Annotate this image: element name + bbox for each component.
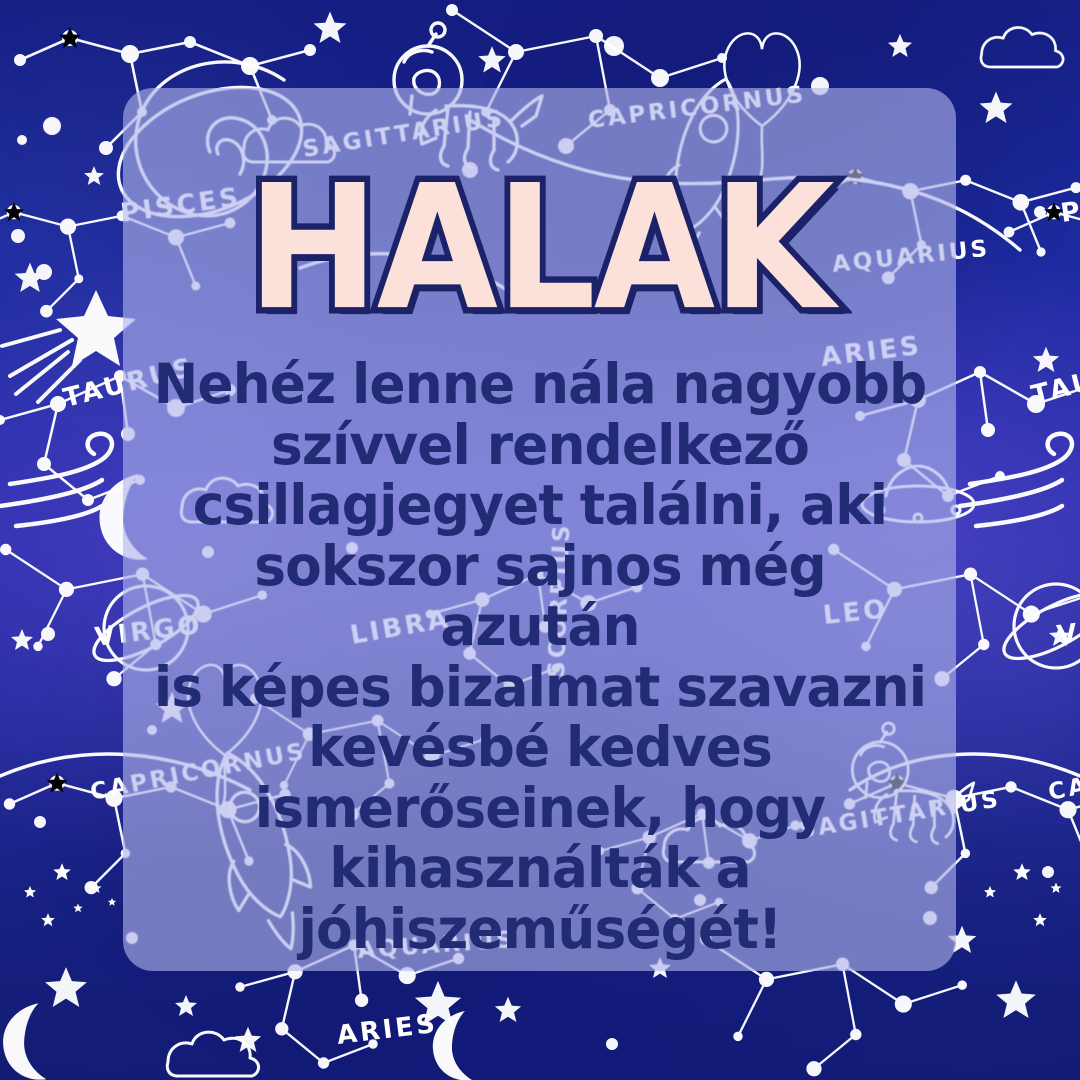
svg-text:VIRGO: VIRGO bbox=[1055, 608, 1080, 651]
horoscope-line: kevésbé kedves bbox=[152, 717, 928, 778]
content-card: HALAK Nehéz lenne nála nagyobb szívvel r… bbox=[123, 88, 956, 971]
horoscope-text: Nehéz lenne nála nagyobb szívvel rendelk… bbox=[152, 354, 928, 959]
zodiac-sign-title: HALAK bbox=[247, 162, 832, 334]
horoscope-line: szívvel rendelkező bbox=[152, 415, 928, 476]
horoscope-line: ismerőseinek, hogy bbox=[152, 778, 928, 839]
title-container: HALAK bbox=[123, 184, 956, 312]
horoscope-line: sokszor sajnos még azután bbox=[152, 536, 928, 657]
horoscope-line: csillagjegyet találni, aki bbox=[152, 475, 928, 536]
zodiac-poster: PISCES PISCES SAGITTARIUS CAPRICORNUS AQ… bbox=[0, 0, 1080, 1080]
svg-text:ARIES: ARIES bbox=[335, 1009, 439, 1051]
horoscope-line: Nehéz lenne nála nagyobb bbox=[152, 354, 928, 415]
horoscope-line: jóhiszeműségét! bbox=[152, 899, 928, 960]
horoscope-line: kihasználták a bbox=[152, 838, 928, 899]
horoscope-line: is képes bizalmat szavazni bbox=[152, 657, 928, 718]
